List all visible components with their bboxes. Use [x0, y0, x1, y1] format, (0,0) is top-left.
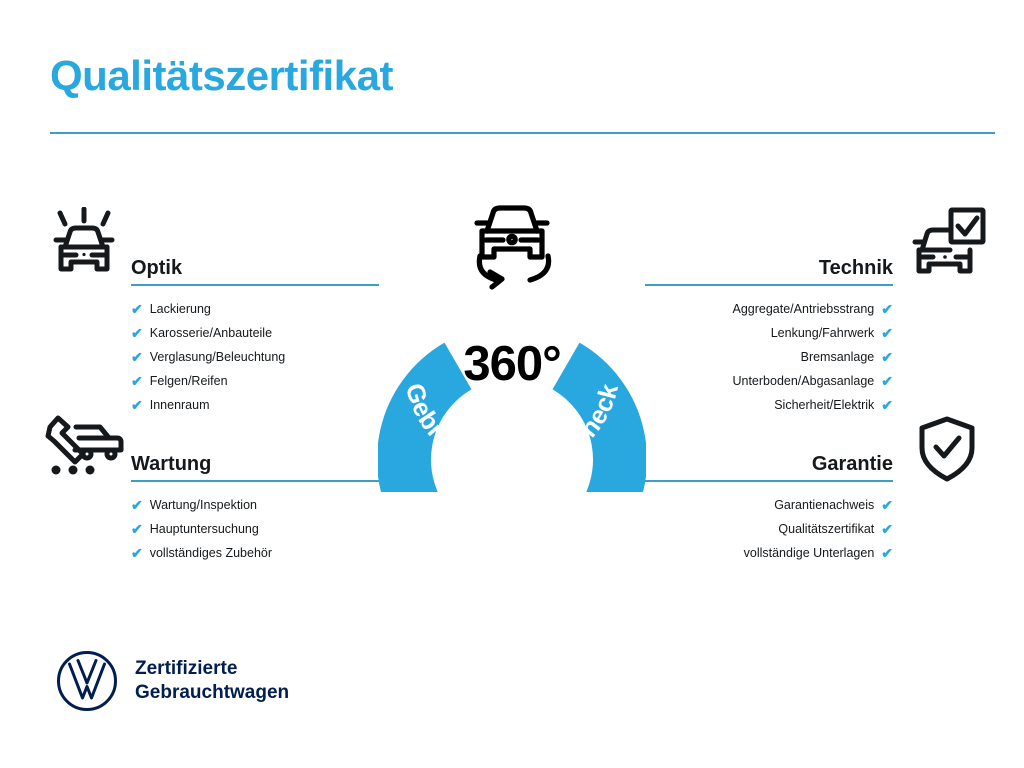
list-item: Garantienachweis ✔	[645, 493, 893, 517]
list-item: ✔ Lackierung	[131, 297, 379, 321]
check-icon: ✔	[881, 546, 893, 560]
check-icon: ✔	[131, 398, 143, 412]
section-wartung: Wartung ✔ Wartung/Inspektion ✔ Hauptunte…	[131, 432, 379, 565]
list-item: Unterboden/Abgasanlage ✔	[645, 369, 893, 393]
car-front-checkbox-icon	[912, 207, 986, 282]
check-icon: ✔	[131, 374, 143, 388]
check-icon: ✔	[881, 350, 893, 364]
list-item: ✔ vollständiges Zubehör	[131, 541, 379, 565]
check-icon: ✔	[881, 498, 893, 512]
list-item-label: Karosserie/Anbauteile	[150, 327, 272, 340]
list-item: ✔ Karosserie/Anbauteile	[131, 321, 379, 345]
section-optik-title: Optik	[131, 258, 182, 278]
list-item-label: Qualitätszertifikat	[778, 523, 874, 536]
list-item: Aggregate/Antriebsstrang ✔	[645, 297, 893, 321]
section-optik-list: ✔ Lackierung ✔ Karosserie/Anbauteile ✔ V…	[131, 297, 379, 417]
check-icon: ✔	[881, 374, 893, 388]
list-item: ✔ Wartung/Inspektion	[131, 493, 379, 517]
list-item-label: Innenraum	[150, 399, 210, 412]
list-item: Sicherheit/Elektrik ✔	[645, 393, 893, 417]
wrench-car-service-icon	[45, 414, 125, 483]
check-icon: ✔	[881, 302, 893, 316]
check-icon: ✔	[881, 522, 893, 536]
list-item-label: Lackierung	[150, 303, 211, 316]
section-wartung-divider	[131, 480, 379, 482]
list-item-label: vollständiges Zubehör	[150, 547, 272, 560]
list-item-label: Lenkung/Fahrwerk	[771, 327, 875, 340]
section-optik-head: Optik	[131, 236, 379, 278]
header-divider	[50, 132, 995, 134]
list-item: ✔ Hauptuntersuchung	[131, 517, 379, 541]
list-item-label: Wartung/Inspektion	[150, 499, 257, 512]
page-title: Qualitätszertifikat	[50, 52, 393, 100]
list-item-label: Felgen/Reifen	[150, 375, 228, 388]
section-garantie-title: Garantie	[812, 454, 893, 474]
section-technik-head: Technik	[645, 236, 893, 278]
list-item: ✔ Felgen/Reifen	[131, 369, 379, 393]
list-item: ✔ Innenraum	[131, 393, 379, 417]
vw-wordmark-line1: Zertifizierte	[135, 657, 289, 681]
check-icon: ✔	[131, 498, 143, 512]
section-technik-divider	[645, 284, 893, 286]
section-wartung-list: ✔ Wartung/Inspektion ✔ Hauptuntersuchung…	[131, 493, 379, 565]
badge-degrees-value: 360°	[378, 340, 646, 389]
check-icon: ✔	[131, 326, 143, 340]
list-item: Lenkung/Fahrwerk ✔	[645, 321, 893, 345]
list-item: ✔ Verglasung/Beleuchtung	[131, 345, 379, 369]
certificate-page: Qualitätszertifikat	[0, 0, 1024, 768]
section-wartung-head: Wartung	[131, 432, 379, 474]
car-front-rotate-icon	[462, 198, 562, 292]
list-item-label: vollständige Unterlagen	[744, 547, 875, 560]
check-icon: ✔	[131, 302, 143, 316]
list-item-label: Verglasung/Beleuchtung	[150, 351, 286, 364]
section-garantie-list: Garantienachweis ✔ Qualitätszertifikat ✔…	[645, 493, 893, 565]
section-wartung-title: Wartung	[131, 454, 211, 474]
volkswagen-logo-icon	[56, 650, 118, 712]
list-item: Bremsanlage ✔	[645, 345, 893, 369]
check-icon: ✔	[131, 546, 143, 560]
list-item: Qualitätszertifikat ✔	[645, 517, 893, 541]
volkswagen-wordmark: Zertifizierte Gebrauchtwagen	[135, 657, 289, 705]
check-icon: ✔	[131, 522, 143, 536]
list-item-label: Unterboden/Abgasanlage	[732, 375, 874, 388]
list-item-label: Sicherheit/Elektrik	[774, 399, 874, 412]
section-optik: Optik ✔ Lackierung ✔ Karosserie/Anbautei…	[131, 236, 379, 417]
shield-check-icon	[918, 416, 976, 487]
section-garantie-divider	[645, 480, 893, 482]
vw-wordmark-line2: Gebrauchtwagen	[135, 681, 289, 705]
section-technik-title: Technik	[819, 258, 893, 278]
list-item-label: Bremsanlage	[801, 351, 875, 364]
list-item-label: Hauptuntersuchung	[150, 523, 259, 536]
list-item-label: Aggregate/Antriebsstrang	[733, 303, 875, 316]
check-icon: ✔	[881, 398, 893, 412]
section-optik-divider	[131, 284, 379, 286]
volkswagen-certified-logo: Zertifizierte Gebrauchtwagen	[56, 650, 289, 712]
car-front-shine-icon	[45, 207, 123, 284]
list-item: vollständige Unterlagen ✔	[645, 541, 893, 565]
check-icon: ✔	[881, 326, 893, 340]
list-item-label: Garantienachweis	[774, 499, 874, 512]
section-garantie: Garantie Garantienachweis ✔ Qualitätszer…	[645, 432, 893, 565]
section-technik-list: Aggregate/Antriebsstrang ✔ Lenkung/Fahrw…	[645, 297, 893, 417]
check-icon: ✔	[131, 350, 143, 364]
badge-360-gebrauchtwagen-check: Gebrauchtwagen-Check 360°	[378, 196, 646, 492]
section-garantie-head: Garantie	[645, 432, 893, 474]
section-technik: Technik Aggregate/Antriebsstrang ✔ Lenku…	[645, 236, 893, 417]
